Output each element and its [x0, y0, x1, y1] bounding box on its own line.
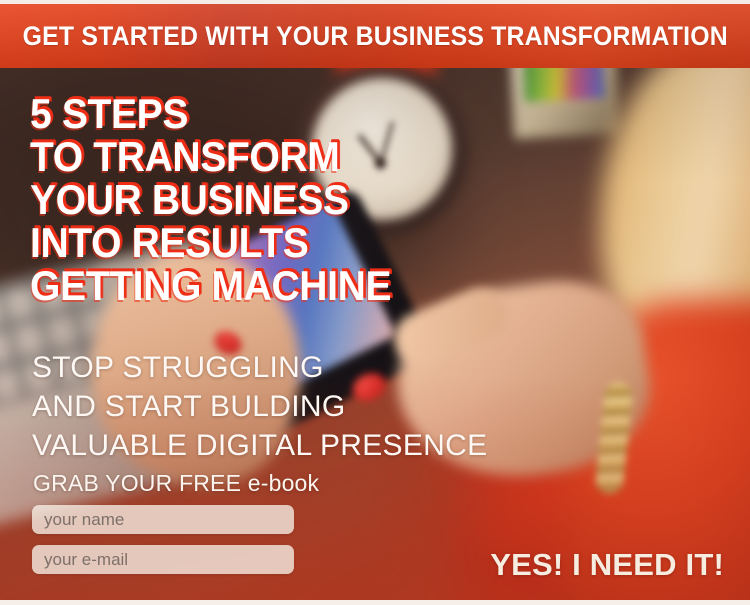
- bottom-edge-strip: [0, 600, 750, 605]
- subheading-line-3: VALUABLE DIGITAL PRESENCE: [32, 426, 487, 465]
- headline-line-5: GETTING MACHINE: [30, 264, 391, 307]
- headline-line-4: INTO RESULTS: [30, 221, 391, 264]
- headline-line-1: 5 STEPS: [30, 92, 391, 135]
- cta-submit-button[interactable]: YES! I NEED IT!: [484, 543, 730, 587]
- headline-line-3: YOUR BUSINESS: [30, 178, 391, 221]
- email-input[interactable]: [32, 545, 294, 574]
- signup-form[interactable]: [32, 505, 294, 574]
- header-title: GET STARTED WITH YOUR BUSINESS TRANSFORM…: [22, 21, 727, 52]
- subheading: STOP STRUGGLING AND START BULDING VALUAB…: [32, 348, 487, 465]
- promo-banner: GET STARTED WITH YOUR BUSINESS TRANSFORM…: [0, 0, 750, 605]
- subheading-line-1: STOP STRUGGLING: [32, 348, 487, 387]
- headline-line-2: TO TRANSFORM: [30, 135, 391, 178]
- name-input[interactable]: [32, 505, 294, 534]
- offer-label: GRAB YOUR FREE e-book: [33, 470, 319, 497]
- header-banner: GET STARTED WITH YOUR BUSINESS TRANSFORM…: [0, 4, 750, 68]
- headline: 5 STEPS TO TRANSFORM YOUR BUSINESS INTO …: [30, 92, 418, 307]
- subheading-line-2: AND START BULDING: [32, 387, 487, 426]
